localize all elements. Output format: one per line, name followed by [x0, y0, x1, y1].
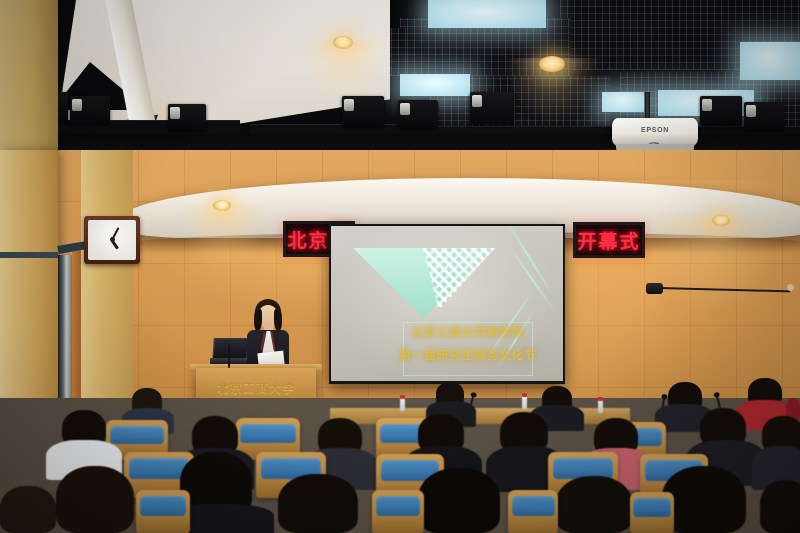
led-banner-right: 开幕式: [573, 222, 645, 258]
stage-light: [342, 96, 384, 126]
wall-cable-anchor: [787, 284, 794, 291]
wall-clock: [84, 216, 140, 264]
audience-head: [662, 466, 746, 533]
water-bottle: [598, 400, 603, 413]
speaker-hair-left: [254, 309, 262, 331]
stage-light: [744, 102, 784, 130]
audience-head: [760, 480, 800, 533]
seat[interactable]: [630, 492, 674, 533]
projection-screen: 北京工商大学商学院 第一届研究生商务文化节: [329, 224, 565, 384]
skylight-panel: [602, 92, 644, 112]
column-trim: [0, 252, 58, 258]
speaker-hair-right: [274, 309, 282, 331]
stage-light: [700, 96, 742, 126]
podium-nameplate-text: 北京工商大学: [217, 379, 295, 396]
stage-light: [470, 92, 514, 124]
podium-mic-stand: [228, 344, 230, 368]
slide-title-line1: 北京工商大学商学院: [383, 324, 553, 340]
clock-face: [88, 220, 136, 260]
audience-head: [56, 466, 134, 533]
seat[interactable]: [136, 490, 190, 533]
led-banner-right-text: 开幕式: [577, 227, 640, 254]
column-upper: [0, 0, 58, 160]
audience-head: [556, 476, 632, 533]
projection-screen-surface: 北京工商大学商学院 第一届研究生商务文化节: [331, 226, 563, 381]
podium-nameplate: 北京工商大学: [206, 378, 306, 396]
projector-brand-label: EPSON: [612, 127, 698, 134]
stage-light: [168, 104, 206, 130]
water-bottle: [522, 396, 527, 409]
slide-title-block: 北京工商大学商学院 第一届研究生商务文化节: [383, 324, 553, 363]
water-bottle: [400, 398, 405, 411]
soffit-downlight: [213, 200, 231, 211]
skylight-panel: [740, 42, 800, 80]
pendant-lamp: [539, 56, 565, 72]
skylight-panel: [400, 74, 470, 96]
soffit-downlight: [712, 215, 730, 226]
clock-center: [110, 237, 115, 242]
stage-light: [398, 100, 438, 128]
seat[interactable]: [508, 490, 558, 533]
downlight: [333, 36, 353, 49]
seat[interactable]: [372, 490, 424, 533]
auditorium-photo: EPSON 北京工 开幕式: [0, 0, 800, 533]
slide-title-line2: 第一届研究生商务文化节: [383, 347, 553, 363]
audience-head: [418, 468, 500, 533]
audience-head: [278, 474, 358, 533]
skylight-panel: [428, 0, 546, 28]
audience-head: [0, 486, 56, 533]
stage-light: [70, 96, 110, 124]
head-table: [330, 408, 630, 424]
